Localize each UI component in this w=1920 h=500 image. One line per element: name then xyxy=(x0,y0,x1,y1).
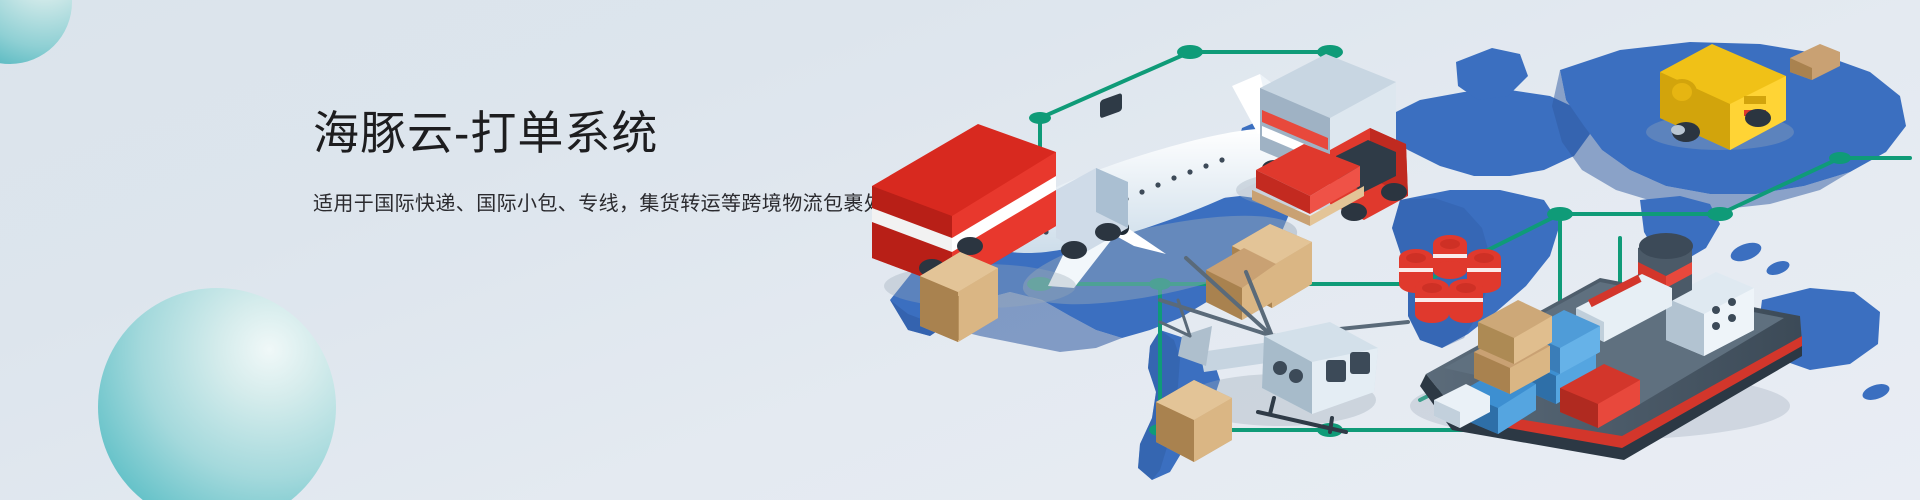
delivery-van-yellow xyxy=(1646,44,1840,150)
page-subtitle: 适用于国际快递、国际小包、专线，集货转运等跨境物流包裹处理 xyxy=(313,190,933,218)
network-node-dots xyxy=(1027,45,1851,437)
decorative-circle-top-left xyxy=(0,0,72,64)
cargo-ship xyxy=(1410,233,1802,460)
hero-copy: 海豚云-打单系统 适用于国际快递、国际小包、专线，集货转运等跨境物流包裹处理 xyxy=(313,106,933,218)
cardboard-boxes xyxy=(920,252,998,342)
logistics-illustration xyxy=(860,0,1920,500)
red-barrels xyxy=(1399,235,1501,323)
decorative-circle-bottom-left xyxy=(98,288,336,500)
helicopter xyxy=(1160,258,1408,432)
hero-banner: 海豚云-打单系统 适用于国际快递、国际小包、专线，集货转运等跨境物流包裹处理 xyxy=(0,0,1920,500)
cardboard-boxes xyxy=(1156,380,1232,462)
cardboard-boxes xyxy=(1206,224,1312,320)
world-map-continents xyxy=(890,42,1906,480)
network-nodes xyxy=(1040,52,1910,430)
page-title: 海豚云-打单系统 xyxy=(313,106,933,160)
airplane xyxy=(980,74,1304,322)
box-truck-grey xyxy=(1236,54,1408,226)
